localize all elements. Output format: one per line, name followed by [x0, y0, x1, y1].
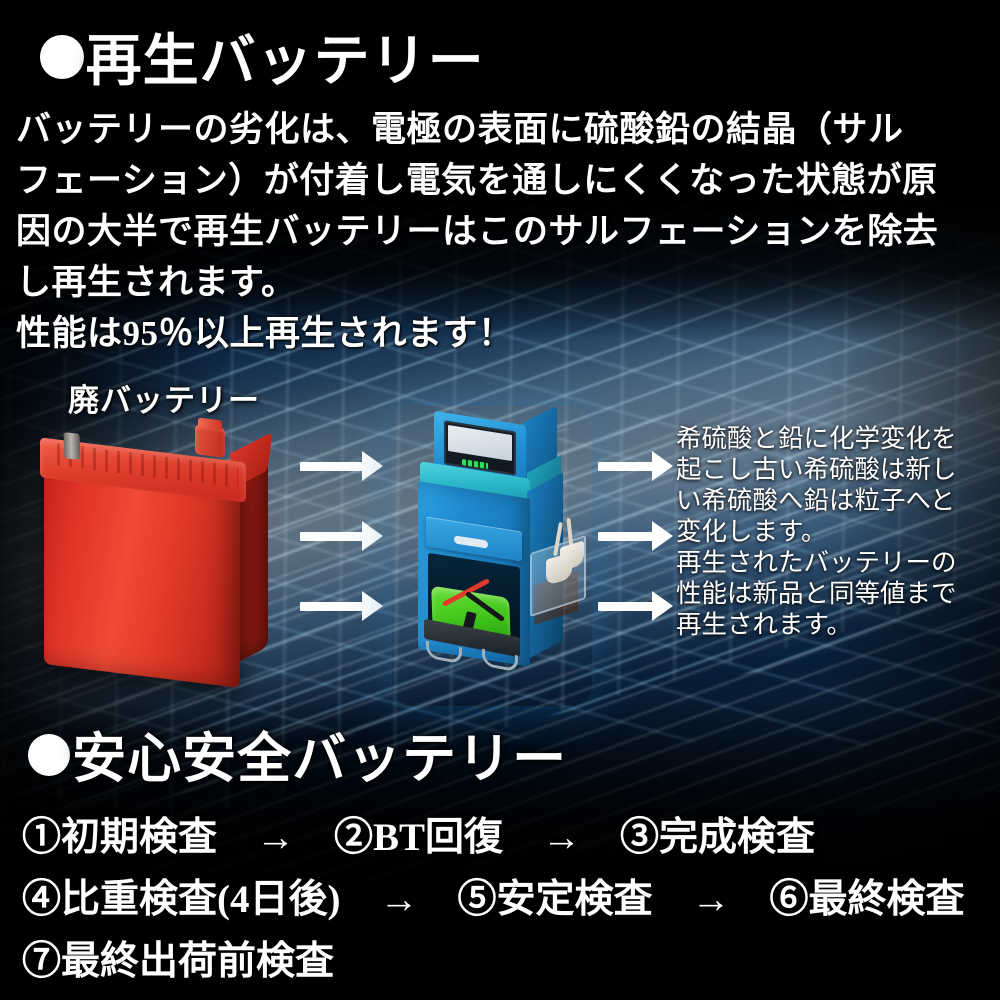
- section-heading-safe-battery: 安心安全バッテリー: [28, 714, 567, 793]
- battery-regenerator-machine-image: [404, 414, 579, 692]
- process-description-text: 希硫酸と鉛に化学変化を 起こし古い希硫酸は新し い希硫酸へ鉛は粒子へと 変化しま…: [676, 424, 996, 641]
- intro-paragraph: バッテリーの劣化は、電極の表面に硫酸鉛の結晶（サル フェーション）が付着し電気を…: [16, 104, 976, 359]
- bullet-circle-icon: [40, 35, 84, 79]
- process-description-line: 性能は新品と同等値まで: [676, 579, 996, 610]
- intro-paragraph-line: 因の大半で再生バッテリーはこのサルフェーションを除去: [16, 206, 976, 257]
- process-description-line: 再生されます。: [676, 610, 996, 641]
- flow-arrow-left-1: [300, 458, 388, 474]
- process-description-line: 再生されたバッテリーの: [676, 548, 996, 579]
- inspection-steps-row-2: ④比重検査(4日後) → ⑤安定検査 → ⑥最終検査: [22, 868, 992, 924]
- intro-paragraph-highlight: 性能は95％以上再生されます！: [16, 308, 976, 359]
- inspection-steps-row-3: ⑦最終出荷前検査: [22, 930, 992, 986]
- battery-positive-terminal: [195, 424, 225, 458]
- section-heading-recycled-battery: 再生バッテリー: [40, 16, 485, 97]
- intro-paragraph-line: し再生されます。: [16, 257, 976, 308]
- flow-arrow-right-2: [598, 528, 676, 544]
- battery-negative-terminal: [64, 432, 81, 460]
- section-heading-recycled-battery-label: 再生バッテリー: [86, 31, 485, 93]
- intro-paragraph-line: フェーション）が付着し電気を通しにくくなった状態が原: [16, 155, 976, 206]
- poster-canvas: 再生バッテリー バッテリーの劣化は、電極の表面に硫酸鉛の結晶（サル フェーション…: [0, 0, 1000, 1000]
- flow-arrow-left-3: [300, 598, 388, 614]
- flow-arrow-left-2: [300, 528, 388, 544]
- bullet-circle-icon: [28, 734, 70, 776]
- process-description-line: 変化します。: [676, 517, 996, 548]
- section-heading-safe-battery-label: 安心安全バッテリー: [72, 729, 567, 789]
- inspection-steps-row-1: ①初期検査 → ②BT回復 → ③完成検査: [22, 806, 992, 862]
- intro-paragraph-line: バッテリーの劣化は、電極の表面に硫酸鉛の結晶（サル: [16, 104, 976, 155]
- flow-arrow-right-3: [598, 598, 676, 614]
- process-description-line: 希硫酸と鉛に化学変化を: [676, 424, 996, 455]
- process-description-line: い希硫酸へ鉛は粒子へと: [676, 486, 996, 517]
- process-description-line: 起こし古い希硫酸は新し: [676, 455, 996, 486]
- waste-battery-image: [28, 420, 278, 690]
- waste-battery-label: 廃バッテリー: [68, 375, 260, 420]
- flow-arrow-right-1: [598, 458, 676, 474]
